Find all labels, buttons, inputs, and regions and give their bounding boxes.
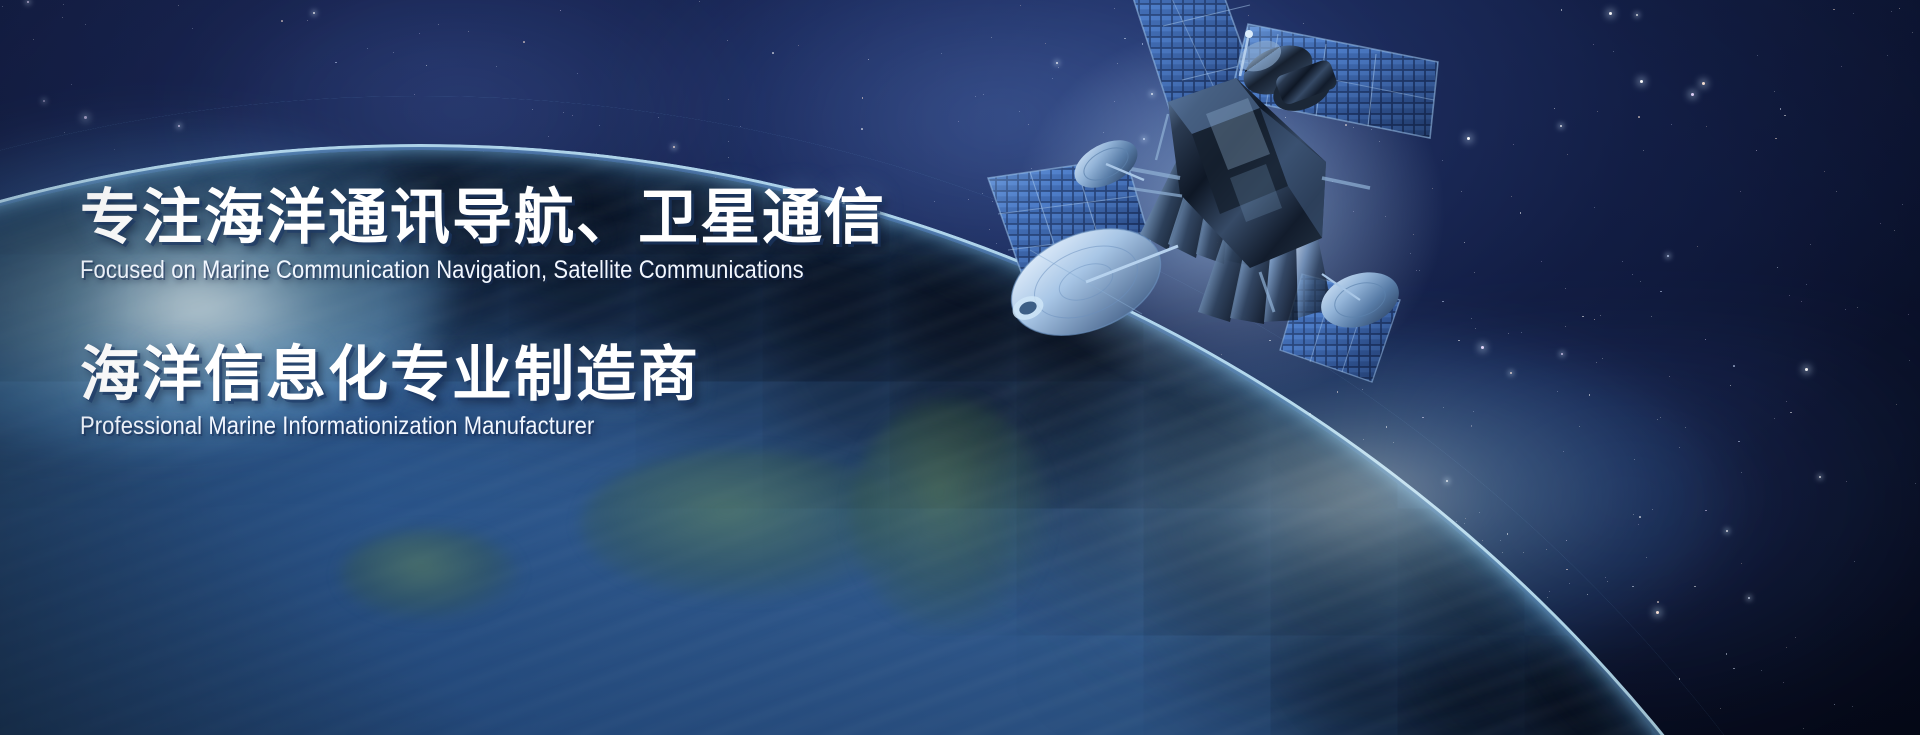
star — [1774, 418, 1775, 419]
star — [84, 116, 87, 119]
star — [1482, 540, 1483, 541]
star — [1446, 480, 1448, 482]
star — [1312, 553, 1314, 555]
star — [1142, 43, 1144, 45]
star — [64, 132, 66, 134]
star — [1511, 196, 1512, 197]
star — [1640, 281, 1641, 282]
star — [1439, 568, 1440, 569]
nebula-haze-lower-right — [1380, 330, 1920, 735]
star — [1633, 514, 1634, 515]
star — [772, 52, 774, 54]
star — [1464, 523, 1465, 524]
star — [1285, 117, 1287, 119]
star — [1416, 74, 1417, 75]
star — [573, 165, 575, 167]
star — [1679, 447, 1680, 448]
star — [532, 109, 533, 110]
star — [1192, 147, 1193, 148]
star — [1720, 708, 1721, 709]
star — [1786, 647, 1787, 648]
star — [1547, 597, 1548, 598]
star — [1589, 394, 1591, 396]
star — [1579, 426, 1580, 427]
star — [342, 169, 343, 170]
star — [1896, 404, 1897, 405]
star — [1784, 115, 1786, 117]
satellite-booms — [1126, 114, 1370, 312]
star — [1309, 724, 1311, 726]
star — [1366, 678, 1367, 679]
star — [699, 1, 700, 2]
star — [1186, 685, 1187, 686]
satellite-thruster-module — [1234, 35, 1338, 119]
star — [1122, 653, 1123, 654]
star — [1458, 340, 1460, 342]
star — [1726, 530, 1728, 532]
star — [1211, 94, 1212, 95]
star — [1561, 353, 1563, 355]
star — [1225, 40, 1226, 41]
star — [1152, 596, 1154, 598]
star — [353, 576, 354, 577]
star — [1030, 615, 1031, 616]
star — [798, 45, 799, 46]
star — [1846, 481, 1847, 482]
star — [1549, 591, 1550, 592]
star — [1255, 223, 1256, 224]
solar-panel-lower-right — [1280, 274, 1400, 382]
copy-group-primary: 专注海洋通讯导航、卫星通信 Focused on Marine Communic… — [80, 186, 1080, 285]
star — [192, 28, 193, 29]
star — [975, 96, 976, 97]
star — [1434, 721, 1435, 722]
star — [1056, 62, 1058, 64]
star — [1474, 272, 1475, 273]
star — [941, 53, 942, 54]
star — [1613, 707, 1614, 708]
star — [1656, 611, 1659, 614]
star — [393, 52, 394, 53]
star — [1317, 292, 1318, 293]
star — [1697, 246, 1698, 247]
star — [1114, 101, 1115, 102]
star — [1757, 55, 1758, 56]
star — [1638, 116, 1640, 118]
star — [1045, 43, 1046, 44]
star — [1362, 389, 1363, 390]
star — [1273, 67, 1274, 68]
star — [419, 33, 420, 34]
star — [560, 10, 562, 12]
star — [1852, 706, 1853, 707]
star — [1051, 583, 1052, 584]
star — [1738, 441, 1740, 443]
star — [1362, 326, 1363, 327]
star — [1643, 150, 1644, 151]
star — [658, 117, 659, 118]
star — [1227, 235, 1228, 236]
star — [1265, 282, 1266, 283]
star — [1539, 723, 1540, 724]
star — [1124, 38, 1126, 40]
star — [313, 12, 315, 14]
star — [1371, 129, 1372, 130]
star — [178, 5, 179, 6]
star — [1196, 141, 1198, 143]
star — [1594, 207, 1595, 208]
star — [1123, 192, 1124, 193]
star — [1121, 216, 1122, 217]
star — [1303, 23, 1304, 24]
star — [1298, 626, 1299, 627]
star — [1353, 548, 1354, 549]
star — [1639, 516, 1641, 518]
star — [1795, 637, 1796, 638]
star — [1221, 354, 1222, 355]
star — [1323, 647, 1324, 648]
star — [1041, 639, 1042, 640]
star — [438, 24, 439, 25]
star — [1566, 540, 1568, 542]
star — [728, 157, 729, 158]
star — [1880, 223, 1881, 224]
star — [1452, 538, 1453, 539]
star — [1087, 622, 1088, 623]
star — [1510, 372, 1512, 374]
star — [1806, 284, 1807, 285]
satellite-radiator-fan — [1140, 150, 1252, 266]
star — [1748, 597, 1750, 599]
star — [1471, 318, 1472, 319]
star — [1325, 329, 1326, 330]
star — [496, 66, 497, 67]
star — [183, 561, 184, 562]
solar-panel-upper-right — [1230, 24, 1438, 138]
star — [1596, 362, 1597, 363]
star — [1513, 732, 1514, 733]
star — [1337, 391, 1339, 393]
star — [1222, 555, 1223, 556]
star — [1307, 722, 1309, 724]
star — [1151, 362, 1152, 363]
star — [1909, 360, 1910, 361]
satellite-dish-small-right — [1314, 263, 1406, 337]
star — [1740, 191, 1741, 192]
star — [997, 608, 998, 609]
star — [1632, 586, 1634, 588]
star — [740, 126, 741, 127]
star — [1386, 426, 1388, 428]
star — [1118, 369, 1119, 370]
star — [1741, 472, 1742, 473]
star — [862, 708, 863, 709]
star — [1660, 291, 1662, 293]
star — [1162, 399, 1163, 400]
star — [1353, 211, 1354, 212]
star — [1854, 561, 1855, 562]
star — [1269, 340, 1271, 342]
star — [1028, 124, 1029, 125]
star — [1783, 682, 1784, 683]
star — [1774, 91, 1775, 92]
star — [1105, 347, 1106, 348]
star — [1554, 108, 1556, 110]
star — [1761, 670, 1762, 671]
star — [1560, 125, 1562, 127]
star — [577, 73, 578, 74]
star — [1833, 9, 1835, 11]
star — [1535, 596, 1536, 597]
star — [1135, 386, 1136, 387]
star — [1048, 521, 1049, 522]
star — [1582, 316, 1584, 318]
star — [1640, 80, 1643, 83]
star — [1853, 13, 1854, 14]
star — [1343, 119, 1344, 120]
star — [1726, 653, 1728, 655]
star — [1660, 417, 1661, 418]
star — [1507, 533, 1509, 535]
star — [178, 125, 180, 127]
star — [190, 164, 191, 165]
star — [1541, 261, 1542, 262]
star — [281, 20, 283, 22]
star — [1461, 191, 1462, 192]
star — [1318, 623, 1319, 624]
star — [1052, 78, 1053, 79]
headline-secondary: 海洋信息化专业制造商 — [80, 343, 1080, 407]
star — [746, 441, 747, 442]
star — [267, 522, 268, 523]
star — [1316, 612, 1318, 614]
star — [1593, 44, 1594, 45]
star — [1185, 193, 1188, 196]
star — [1803, 728, 1804, 729]
star — [468, 31, 469, 32]
star — [673, 146, 675, 148]
star — [1789, 295, 1790, 296]
star — [1912, 32, 1913, 33]
star — [1362, 509, 1363, 510]
star — [1506, 605, 1508, 607]
star — [1103, 132, 1104, 133]
star — [728, 99, 729, 100]
star — [1500, 540, 1501, 541]
star — [1566, 569, 1568, 571]
star — [1442, 301, 1444, 303]
banner-copy: 专注海洋通讯导航、卫星通信 Focused on Marine Communic… — [80, 186, 1080, 441]
star — [1364, 100, 1366, 102]
star — [1523, 552, 1524, 553]
star — [1075, 545, 1076, 546]
star — [33, 39, 34, 40]
hero-banner: 专注海洋通讯导航、卫星通信 Focused on Marine Communic… — [0, 0, 1920, 735]
star — [1730, 385, 1732, 387]
star — [1443, 407, 1444, 408]
star — [548, 136, 549, 137]
star — [179, 174, 181, 176]
star — [967, 680, 968, 681]
star — [62, 17, 63, 18]
star — [1777, 267, 1779, 269]
star — [1613, 51, 1614, 52]
star — [404, 166, 405, 167]
star — [1605, 577, 1606, 578]
star — [1464, 242, 1466, 244]
star — [369, 454, 370, 455]
star — [1467, 137, 1470, 140]
satellite-radiator-fan-lower — [1198, 230, 1332, 324]
star — [335, 62, 337, 64]
star — [1915, 483, 1916, 484]
star — [1196, 531, 1197, 532]
star — [1702, 82, 1705, 85]
star — [1249, 652, 1250, 653]
star — [1353, 61, 1354, 62]
star — [1636, 14, 1638, 16]
star — [1706, 126, 1707, 127]
star — [728, 141, 729, 142]
star — [868, 59, 870, 61]
subline-secondary: Professional Marine Informationization M… — [80, 412, 960, 441]
star — [599, 125, 600, 126]
star — [1248, 15, 1249, 16]
star — [1429, 661, 1431, 663]
star — [1705, 339, 1707, 341]
star — [1694, 586, 1696, 588]
atmosphere-highlight-right — [980, 330, 1740, 690]
star — [1473, 411, 1474, 412]
star — [1899, 8, 1901, 10]
star — [563, 112, 564, 113]
star — [1471, 426, 1472, 427]
star — [1071, 563, 1074, 566]
star — [1065, 562, 1066, 563]
star — [596, 153, 597, 154]
star — [1069, 629, 1070, 630]
star — [862, 97, 864, 99]
star — [1705, 510, 1707, 512]
star — [1020, 5, 1021, 6]
star — [1363, 439, 1364, 440]
star — [1902, 204, 1903, 205]
star — [1657, 601, 1659, 603]
star — [1442, 677, 1443, 678]
star — [426, 65, 428, 67]
star — [1513, 144, 1514, 145]
star — [1561, 9, 1563, 11]
star — [1031, 168, 1032, 169]
star — [1465, 518, 1466, 519]
star — [1064, 487, 1066, 489]
star — [1805, 368, 1808, 371]
star — [1845, 309, 1846, 310]
star — [1171, 186, 1172, 187]
satellite-antenna-mast — [1240, 30, 1253, 76]
star — [612, 162, 613, 163]
star — [1122, 574, 1124, 576]
star — [1667, 255, 1669, 257]
star — [977, 567, 978, 568]
star — [1521, 332, 1522, 333]
star — [620, 649, 622, 651]
star — [1081, 355, 1082, 356]
star — [977, 450, 978, 451]
star — [1485, 629, 1487, 631]
star — [1594, 319, 1596, 321]
star — [1632, 274, 1633, 275]
star — [1836, 191, 1837, 192]
star — [715, 177, 716, 178]
star — [1857, 307, 1858, 308]
star — [1494, 703, 1496, 705]
star — [1565, 326, 1566, 327]
star — [1508, 333, 1509, 334]
star — [1733, 365, 1735, 367]
star — [1478, 648, 1479, 649]
star — [1419, 270, 1420, 271]
star — [268, 559, 269, 560]
star — [1117, 405, 1118, 406]
star — [1908, 314, 1909, 315]
star — [1191, 497, 1192, 498]
earth-landmass-c — [340, 530, 520, 620]
star — [1111, 633, 1112, 634]
star — [1651, 316, 1652, 317]
star — [1239, 100, 1241, 102]
star — [1733, 668, 1735, 670]
star — [1786, 401, 1787, 402]
star — [1479, 512, 1480, 513]
star — [1622, 261, 1623, 262]
star — [1679, 678, 1681, 680]
star — [1442, 160, 1443, 161]
star — [1609, 12, 1612, 15]
star — [727, 40, 728, 41]
star — [198, 174, 199, 175]
star — [1790, 412, 1792, 414]
star — [414, 94, 415, 95]
star — [1834, 704, 1836, 706]
star — [957, 533, 958, 534]
star — [1891, 11, 1892, 12]
star — [1316, 428, 1318, 430]
star — [1602, 358, 1603, 359]
star — [1209, 284, 1210, 285]
star — [1410, 253, 1411, 254]
star — [1240, 639, 1242, 641]
star — [1156, 500, 1157, 501]
star — [1365, 520, 1366, 521]
star — [1178, 701, 1180, 703]
star — [718, 451, 720, 453]
star — [1587, 594, 1589, 596]
star — [1385, 216, 1386, 217]
star — [1520, 212, 1522, 214]
star — [1546, 549, 1547, 550]
star — [1151, 93, 1153, 95]
star — [1756, 150, 1758, 152]
star — [1116, 605, 1118, 607]
star — [1801, 301, 1802, 302]
star — [1481, 346, 1484, 349]
star — [1338, 493, 1339, 494]
star — [1413, 234, 1414, 235]
star — [1597, 111, 1598, 112]
star — [518, 180, 520, 182]
star — [1638, 524, 1639, 525]
